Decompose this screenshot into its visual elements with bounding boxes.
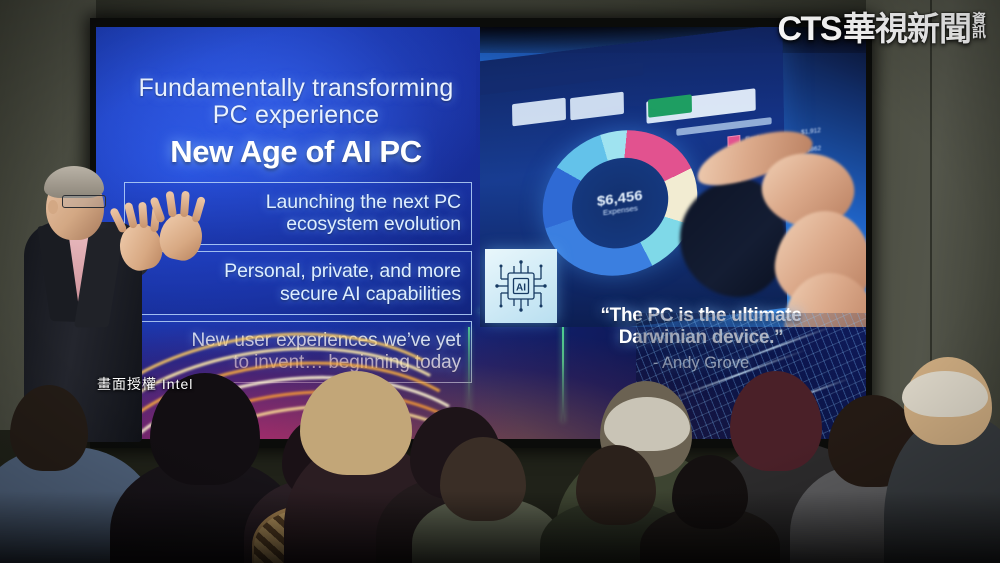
audience <box>0 373 1000 563</box>
presenter-finger <box>138 202 148 228</box>
legend-value: $487 <box>792 199 822 210</box>
presenter-finger <box>180 191 190 217</box>
legend-value: $640 <box>792 181 822 192</box>
legend-name: Groceries <box>746 185 792 198</box>
ai-chip-glyph: AI <box>492 257 550 315</box>
legend-name: Rent <box>745 131 791 144</box>
ai-chip-label: AI <box>516 283 526 294</box>
legend-value: $352 <box>793 217 823 228</box>
audience-member-head <box>730 371 822 471</box>
screenshot-stage: Fundamentally transforming PC experience… <box>0 0 1000 563</box>
legend-value: $1,912 <box>791 127 821 138</box>
legend-swatch-icon <box>728 189 741 202</box>
audience-member-hair <box>902 371 988 417</box>
legend-name: Travel <box>747 221 793 234</box>
audience-member-head <box>10 385 88 471</box>
presenter-hair <box>44 166 104 198</box>
legend-value: $723 <box>792 163 822 174</box>
legend-swatch-icon <box>729 225 742 238</box>
presenter-glasses <box>62 195 106 208</box>
audience-member-head <box>300 371 412 475</box>
presenter-ear <box>48 200 58 214</box>
audience-member-hair <box>604 397 690 451</box>
legend-name: Bills <box>746 149 792 162</box>
legend-swatch-icon <box>727 135 740 148</box>
channel-logo-sub-line2: 訊 <box>972 26 986 39</box>
channel-logo-subtext: 資 訊 <box>972 13 986 40</box>
legend-swatch-icon <box>728 153 741 166</box>
legend-name: Dining <box>747 203 793 216</box>
legend-row: Travel $352 <box>729 215 822 238</box>
channel-logo: CTS 華視新聞 資 訊 <box>778 12 987 46</box>
dashboard-legend: Rent $1,912 Bills $862 Car $723 Grocerie… <box>727 125 822 245</box>
legend-value: $862 <box>791 145 821 156</box>
legend-swatch-icon <box>729 207 742 220</box>
channel-logo-chinese: 華視新聞 <box>843 12 971 45</box>
wall-seam <box>930 0 932 420</box>
audience-foreground-shadow <box>0 491 1000 563</box>
credit-overlay: 畫面授權 Intel <box>97 374 193 394</box>
channel-logo-latin: CTS <box>778 12 842 46</box>
presenter-finger <box>165 191 177 218</box>
presenter-finger <box>191 196 206 223</box>
legend-name: Car <box>746 167 792 180</box>
donut-center: $6,456 Expenses <box>570 152 670 255</box>
legend-swatch-icon <box>728 171 741 184</box>
